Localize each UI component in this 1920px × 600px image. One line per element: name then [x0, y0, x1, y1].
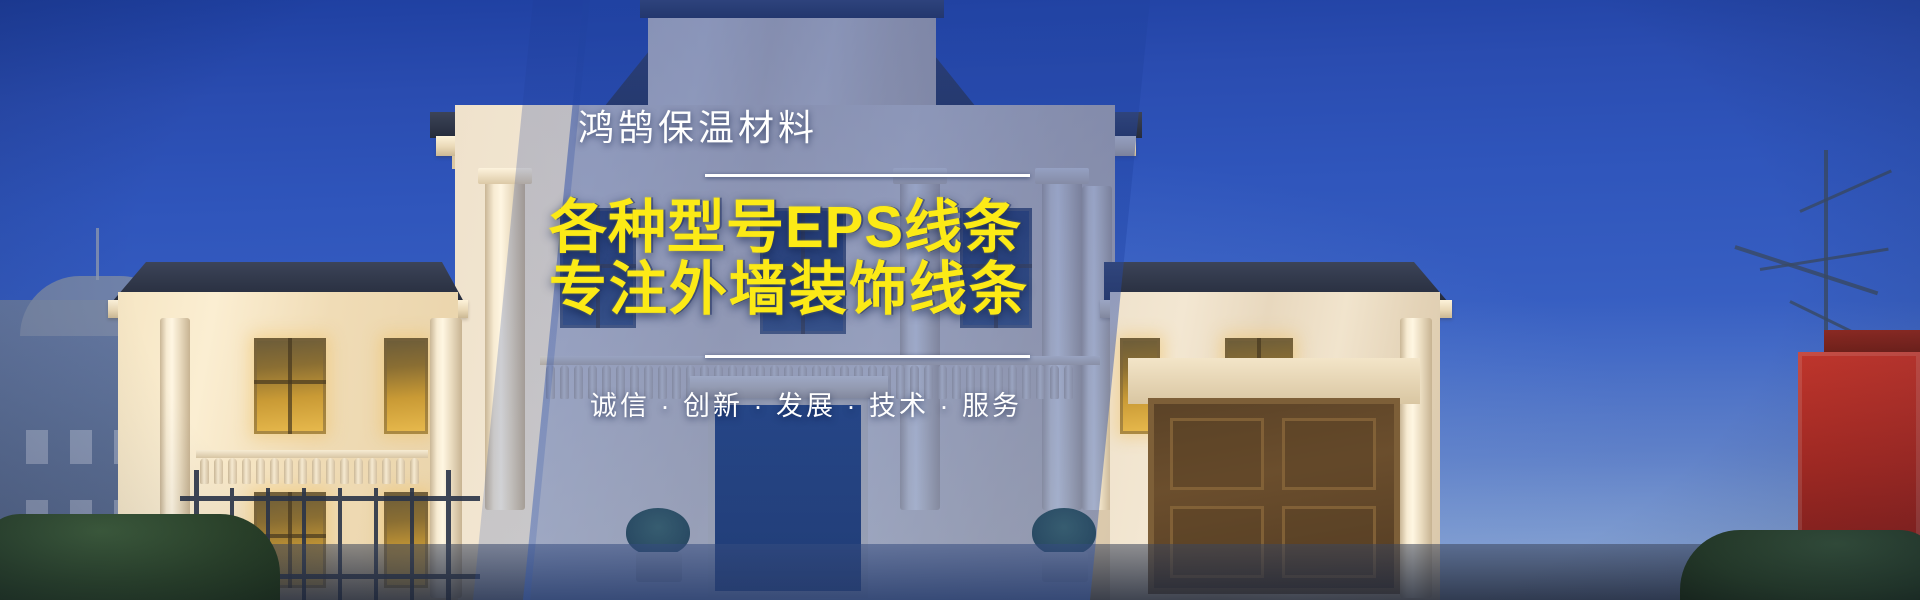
headline-line-2: 专注外墙装饰线条 — [549, 259, 1168, 321]
divider-bottom — [705, 355, 1030, 358]
fence-rail — [180, 496, 480, 501]
balustrade-rail — [196, 450, 428, 458]
banner-text-block: 鸿鹄保温材料 各种型号EPS线条 专注外墙装饰线条 诚信 · 创新 · 发展 ·… — [548, 88, 1168, 468]
divider-top — [705, 174, 1030, 177]
headline-line-1: 各种型号EPS线条 — [549, 197, 1168, 259]
tagline: 诚信 · 创新 · 发展 · 技术 · 服务 — [548, 384, 1168, 423]
window-mullion — [288, 338, 292, 434]
garage-panel — [1170, 418, 1264, 490]
headline: 各种型号EPS线条 专注外墙装饰线条 — [548, 197, 1168, 321]
brand-name: 鸿鹄保温材料 — [548, 88, 1168, 146]
garage-panel — [1282, 418, 1376, 490]
red-structure — [1798, 352, 1920, 552]
window — [384, 338, 428, 434]
window-mullion — [254, 380, 326, 384]
hero-banner: 鸿鹄保温材料 各种型号EPS线条 专注外墙装饰线条 诚信 · 创新 · 发展 ·… — [0, 0, 1920, 600]
hedge-left — [0, 514, 280, 600]
hedge-right — [1680, 530, 1920, 600]
window — [254, 338, 326, 434]
